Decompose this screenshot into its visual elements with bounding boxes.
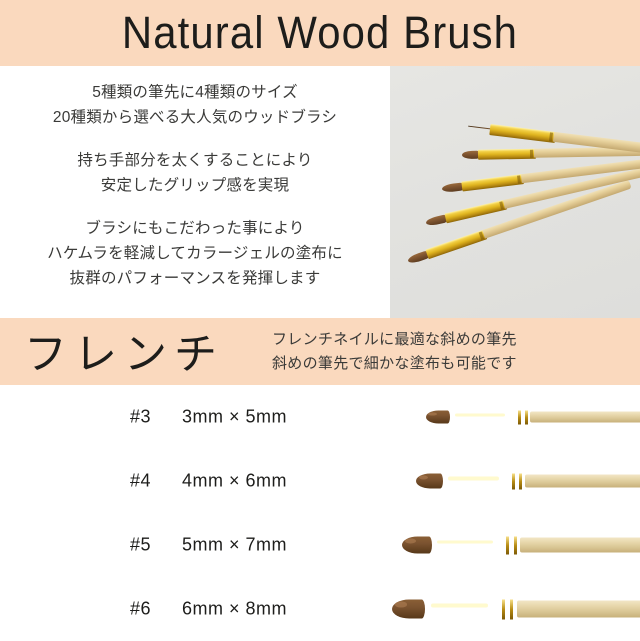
size-row: #66mm × 8mm bbox=[0, 577, 640, 641]
intro-paragraph: 持ち手部分を太くすることにより 安定したグリップ感を実現 bbox=[0, 148, 390, 198]
intro-section: 5種類の筆先に4種類のサイズ 20種類から選べる大人気のウッドブラシ 持ち手部分… bbox=[0, 66, 640, 318]
row-brush-band bbox=[525, 410, 528, 424]
category-name: フレンチ bbox=[24, 319, 224, 381]
row-brush-illustration bbox=[426, 411, 640, 424]
size-code: #4 bbox=[130, 471, 182, 492]
size-dimensions: 6mm × 8mm bbox=[182, 599, 287, 620]
row-brush-tip bbox=[416, 474, 443, 489]
size-list: #33mm × 5mm #44mm × 6mm #55mm × 7mm bbox=[0, 385, 640, 640]
row-brush-tip bbox=[402, 537, 432, 554]
photo-brush-ferrule bbox=[425, 229, 487, 259]
row-brush-handle bbox=[520, 538, 640, 553]
row-brush-band bbox=[510, 599, 513, 619]
size-label-group: #66mm × 8mm bbox=[130, 599, 287, 620]
row-brush-band bbox=[502, 599, 505, 619]
photo-brush-ferrule bbox=[478, 148, 536, 159]
size-dimensions: 5mm × 7mm bbox=[182, 535, 287, 556]
header-band: Natural Wood Brush bbox=[0, 0, 640, 66]
category-description-line: フレンチネイルに最適な斜めの筆先 bbox=[272, 328, 517, 352]
intro-line: 20種類から選べる大人気のウッドブラシ bbox=[0, 105, 390, 130]
size-label-group: #55mm × 7mm bbox=[130, 535, 287, 556]
intro-line: 5種類の筆先に4種類のサイズ bbox=[0, 80, 390, 105]
size-label-group: #33mm × 5mm bbox=[130, 407, 287, 428]
category-description: フレンチネイルに最適な斜めの筆先 斜めの筆先で細かな塗布も可能です bbox=[272, 328, 517, 376]
row-brush-handle bbox=[517, 601, 640, 618]
row-brush-handle bbox=[525, 475, 640, 488]
row-brush-illustration bbox=[402, 537, 640, 554]
size-dimensions: 4mm × 6mm bbox=[182, 471, 287, 492]
row-brush-illustration bbox=[416, 474, 640, 489]
photo-brush-ferrule bbox=[489, 124, 556, 143]
intro-line: 抜群のパフォーマンスを発揮します bbox=[0, 266, 390, 291]
row-brush-illustration bbox=[392, 600, 640, 619]
size-row: #44mm × 6mm bbox=[0, 449, 640, 513]
intro-line: 持ち手部分を太くすることにより bbox=[0, 148, 390, 173]
row-brush-tip bbox=[392, 600, 425, 619]
category-banner: フレンチ フレンチネイルに最適な斜めの筆先 斜めの筆先で細かな塗布も可能です bbox=[0, 318, 640, 385]
intro-line: ブラシにもこだわった事により bbox=[0, 216, 390, 241]
size-label-group: #44mm × 6mm bbox=[130, 471, 287, 492]
intro-copy-block: 5種類の筆先に4種類のサイズ 20種類から選べる大人気のウッドブラシ 持ち手部分… bbox=[0, 66, 390, 318]
size-row: #33mm × 5mm bbox=[0, 385, 640, 449]
intro-line: ハケムラを軽減してカラージェルの塗布に bbox=[0, 241, 390, 266]
size-code: #3 bbox=[130, 407, 182, 428]
category-description-line: 斜めの筆先で細かな塗布も可能です bbox=[272, 352, 517, 376]
row-brush-tip bbox=[426, 411, 450, 424]
photo-brush-ferrule bbox=[444, 199, 507, 223]
size-row: #55mm × 7mm bbox=[0, 513, 640, 577]
page-title: Natural Wood Brush bbox=[22, 0, 617, 66]
row-brush-band bbox=[519, 473, 522, 489]
size-dimensions: 3mm × 5mm bbox=[182, 407, 287, 428]
row-brush-band bbox=[514, 536, 517, 554]
product-photo bbox=[390, 66, 640, 318]
size-code: #6 bbox=[130, 599, 182, 620]
intro-line: 安定したグリップ感を実現 bbox=[0, 173, 390, 198]
row-brush-handle bbox=[530, 412, 640, 423]
intro-paragraph: ブラシにもこだわった事により ハケムラを軽減してカラージェルの塗布に 抜群のパフ… bbox=[0, 216, 390, 291]
row-brush-band bbox=[506, 536, 509, 554]
intro-paragraph: 5種類の筆先に4種類のサイズ 20種類から選べる大人気のウッドブラシ bbox=[0, 80, 390, 130]
row-brush-band bbox=[518, 410, 521, 424]
photo-brush-ferrule bbox=[461, 174, 524, 191]
size-code: #5 bbox=[130, 535, 182, 556]
row-brush-band bbox=[512, 473, 515, 489]
